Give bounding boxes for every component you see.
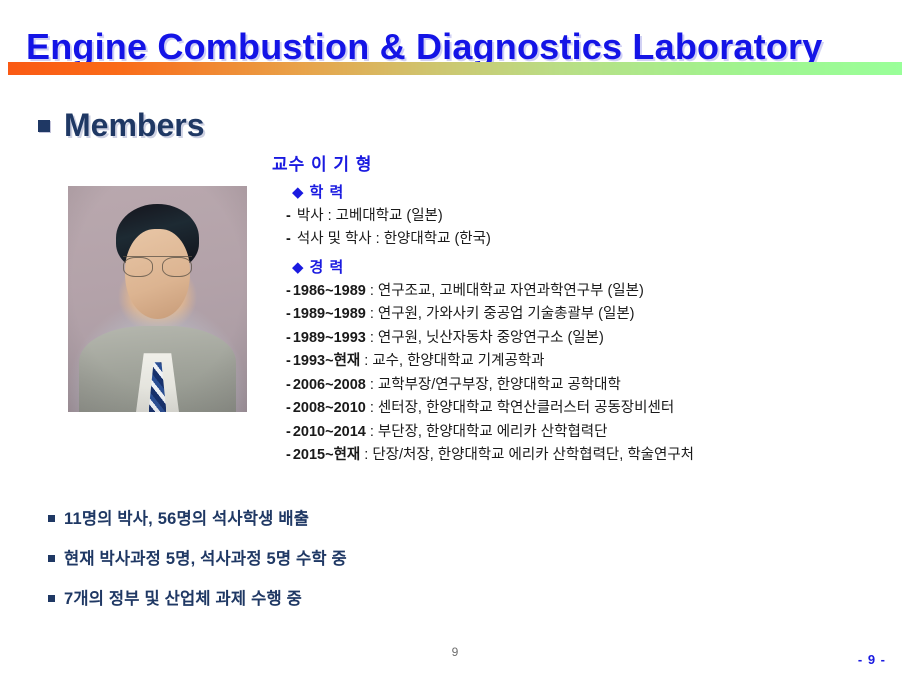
list-item: 현재 박사과정 5명, 석사과정 5명 수학 중 [48, 545, 548, 569]
presentation-slide: Engine Combustion & Diagnostics Laborato… [0, 0, 910, 683]
professor-portrait-photo [68, 186, 247, 412]
entry-dash: - [286, 306, 291, 322]
entry-text: : 연구원, 가와사키 중공업 기술총괄부 (일본) [366, 306, 635, 322]
career-entry: -2015~현재 : 단장/처장, 한양대학교 에리카 산학협력단, 학술연구처 [286, 444, 892, 467]
career-entry: -1993~현재 : 교수, 한양대학교 기계공학과 [286, 350, 892, 373]
career-entry: -1986~1989 : 연구조교, 고베대학교 자연과학연구부 (일본) [286, 280, 892, 303]
entry-text: 박사 : 고베대학교 (일본) [297, 208, 443, 224]
list-item-label: 11명의 박사, 56명의 석사학생 배출 [64, 505, 309, 529]
square-bullet-icon [38, 120, 50, 132]
entry-text: : 단장/처장, 한양대학교 에리카 산학협력단, 학술연구처 [360, 447, 694, 463]
entry-period: 2015~현재 [293, 447, 360, 463]
entry-text: : 연구원, 닛산자동차 중앙연구소 (일본) [366, 330, 604, 346]
entry-dash: - [286, 400, 291, 416]
entry-dash: - [286, 353, 291, 369]
lab-summary-list: 11명의 박사, 56명의 석사학생 배출 현재 박사과정 5명, 석사과정 5… [48, 505, 548, 625]
entry-period: 1989~1989 [293, 306, 366, 322]
square-bullet-icon [48, 595, 55, 602]
entry-period: 1993~현재 [293, 353, 360, 369]
entry-text: : 교학부장/연구부장, 한양대학교 공학대학 [366, 377, 621, 393]
professor-profile: 교수 이 기 형 ◆학 력 - 박사 : 고베대학교 (일본) - 석사 및 학… [272, 150, 892, 468]
entry-dash: - [286, 283, 291, 299]
page-number-corner: - 9 - [858, 652, 886, 667]
entry-text: : 교수, 한양대학교 기계공학과 [360, 353, 544, 369]
career-entry: -2010~2014 : 부단장, 한양대학교 에리카 산학협력단 [286, 421, 892, 444]
entry-dash: - [286, 447, 291, 463]
entry-text: 석사 및 학사 : 한양대학교 (한국) [297, 231, 491, 247]
professor-name: 교수 이 기 형 [272, 150, 892, 175]
entry-dash: - [286, 330, 291, 346]
section-heading-education: ◆학 력 [292, 181, 892, 202]
entry-dash: - [286, 231, 291, 247]
entry-text: : 부단장, 한양대학교 에리카 산학협력단 [366, 424, 608, 440]
entry-period: 2008~2010 [293, 400, 366, 416]
entry-period: 1989~1993 [293, 330, 366, 346]
entry-period: 2006~2008 [293, 377, 366, 393]
section-title-education: 학 력 [310, 184, 345, 201]
education-entry: - 석사 및 학사 : 한양대학교 (한국) [286, 228, 892, 251]
portrait-vignette [68, 186, 247, 412]
members-heading: Members [38, 107, 205, 144]
diamond-bullet-icon: ◆ [292, 259, 305, 276]
career-entry: -2006~2008 : 교학부장/연구부장, 한양대학교 공학대학 [286, 374, 892, 397]
career-entry: -1989~1993 : 연구원, 닛산자동차 중앙연구소 (일본) [286, 327, 892, 350]
career-entry: -1989~1989 : 연구원, 가와사키 중공업 기술총괄부 (일본) [286, 303, 892, 326]
entry-dash: - [286, 208, 291, 224]
entry-text: : 센터장, 한양대학교 학연산클러스터 공동장비센터 [366, 400, 674, 416]
page-number-center: 9 [0, 645, 910, 659]
square-bullet-icon [48, 515, 55, 522]
diamond-bullet-icon: ◆ [292, 184, 305, 201]
section-title-career: 경 력 [310, 259, 345, 276]
entry-text: : 연구조교, 고베대학교 자연과학연구부 (일본) [366, 283, 644, 299]
square-bullet-icon [48, 555, 55, 562]
list-item: 7개의 정부 및 산업체 과제 수행 중 [48, 585, 548, 609]
entry-dash: - [286, 424, 291, 440]
career-entry: -2008~2010 : 센터장, 한양대학교 학연산클러스터 공동장비센터 [286, 397, 892, 420]
education-entry: - 박사 : 고베대학교 (일본) [286, 205, 892, 228]
members-heading-label: Members [64, 107, 205, 144]
entry-period: 2010~2014 [293, 424, 366, 440]
section-heading-career: ◆경 력 [292, 256, 892, 277]
list-item-label: 7개의 정부 및 산업체 과제 수행 중 [64, 585, 302, 609]
entry-period: 1986~1989 [293, 283, 366, 299]
list-item: 11명의 박사, 56명의 석사학생 배출 [48, 505, 548, 529]
title-underline-gradient-bar [8, 62, 902, 75]
list-item-label: 현재 박사과정 5명, 석사과정 5명 수학 중 [64, 545, 347, 569]
entry-dash: - [286, 377, 291, 393]
